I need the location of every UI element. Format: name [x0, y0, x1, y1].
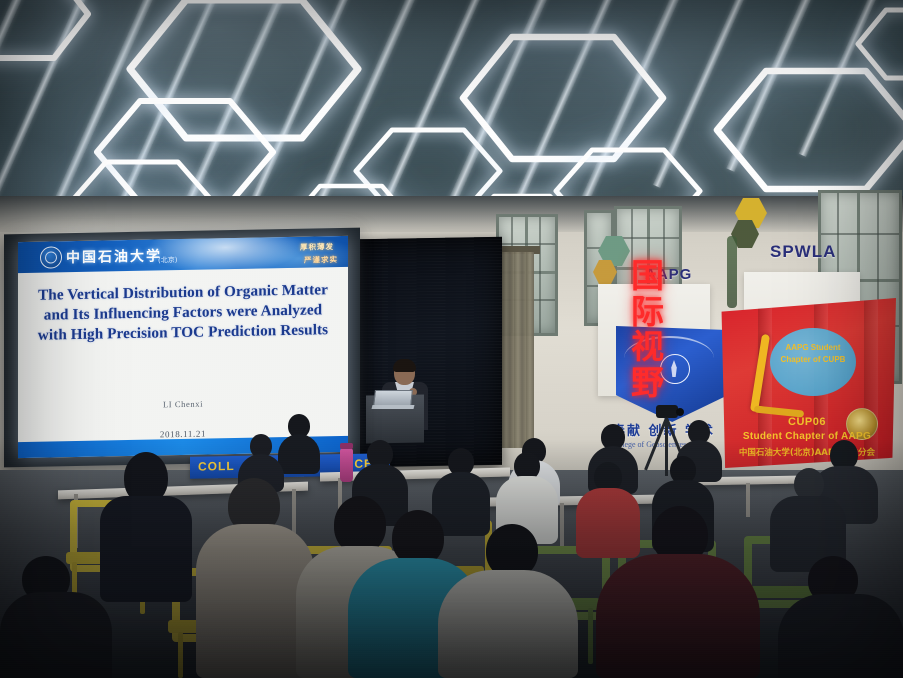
led-text: 国 际 视 野 — [412, 258, 883, 401]
led-char-1: 国 — [631, 258, 664, 294]
audience-member — [778, 556, 903, 678]
hex-light-fixture — [0, 0, 92, 62]
lecture-hall-photo: AAPG SPWLA 奉献 创新 学术 llege of Geosciences… — [0, 0, 903, 678]
slide-header-motto-1: 厚积薄发 — [300, 241, 334, 253]
audience-member — [438, 524, 578, 678]
conference-banner-left-text: COLL — [198, 459, 235, 474]
laptop-icon — [372, 390, 414, 410]
slide-title: The Vertical Distribution of Organic Mat… — [32, 280, 334, 346]
hex-light-fixture — [712, 66, 903, 194]
red-flag-line1: CUP06 — [718, 416, 896, 428]
university-name: 中国石油大学 — [66, 245, 162, 267]
led-char-4: 野 — [631, 365, 664, 401]
slide-header-motto-2: 严谨求实 — [304, 254, 338, 266]
audience-member — [278, 414, 320, 474]
video-camera-icon — [656, 405, 678, 418]
slide-author: LI Chenxi — [18, 396, 348, 412]
slide-header-banner: 中国石油大学 (北京) 厚积薄发 严谨求实 — [18, 236, 348, 273]
audience-member — [0, 556, 112, 678]
hex-light-fixture — [854, 6, 903, 82]
audience-member — [596, 506, 760, 678]
audience-member — [100, 452, 192, 602]
university-seal-icon — [40, 246, 62, 268]
university-campus: (北京) — [158, 255, 177, 265]
led-char-2: 际 — [631, 294, 664, 330]
led-char-3: 视 — [631, 329, 664, 365]
hex-light-fixture — [458, 32, 668, 164]
